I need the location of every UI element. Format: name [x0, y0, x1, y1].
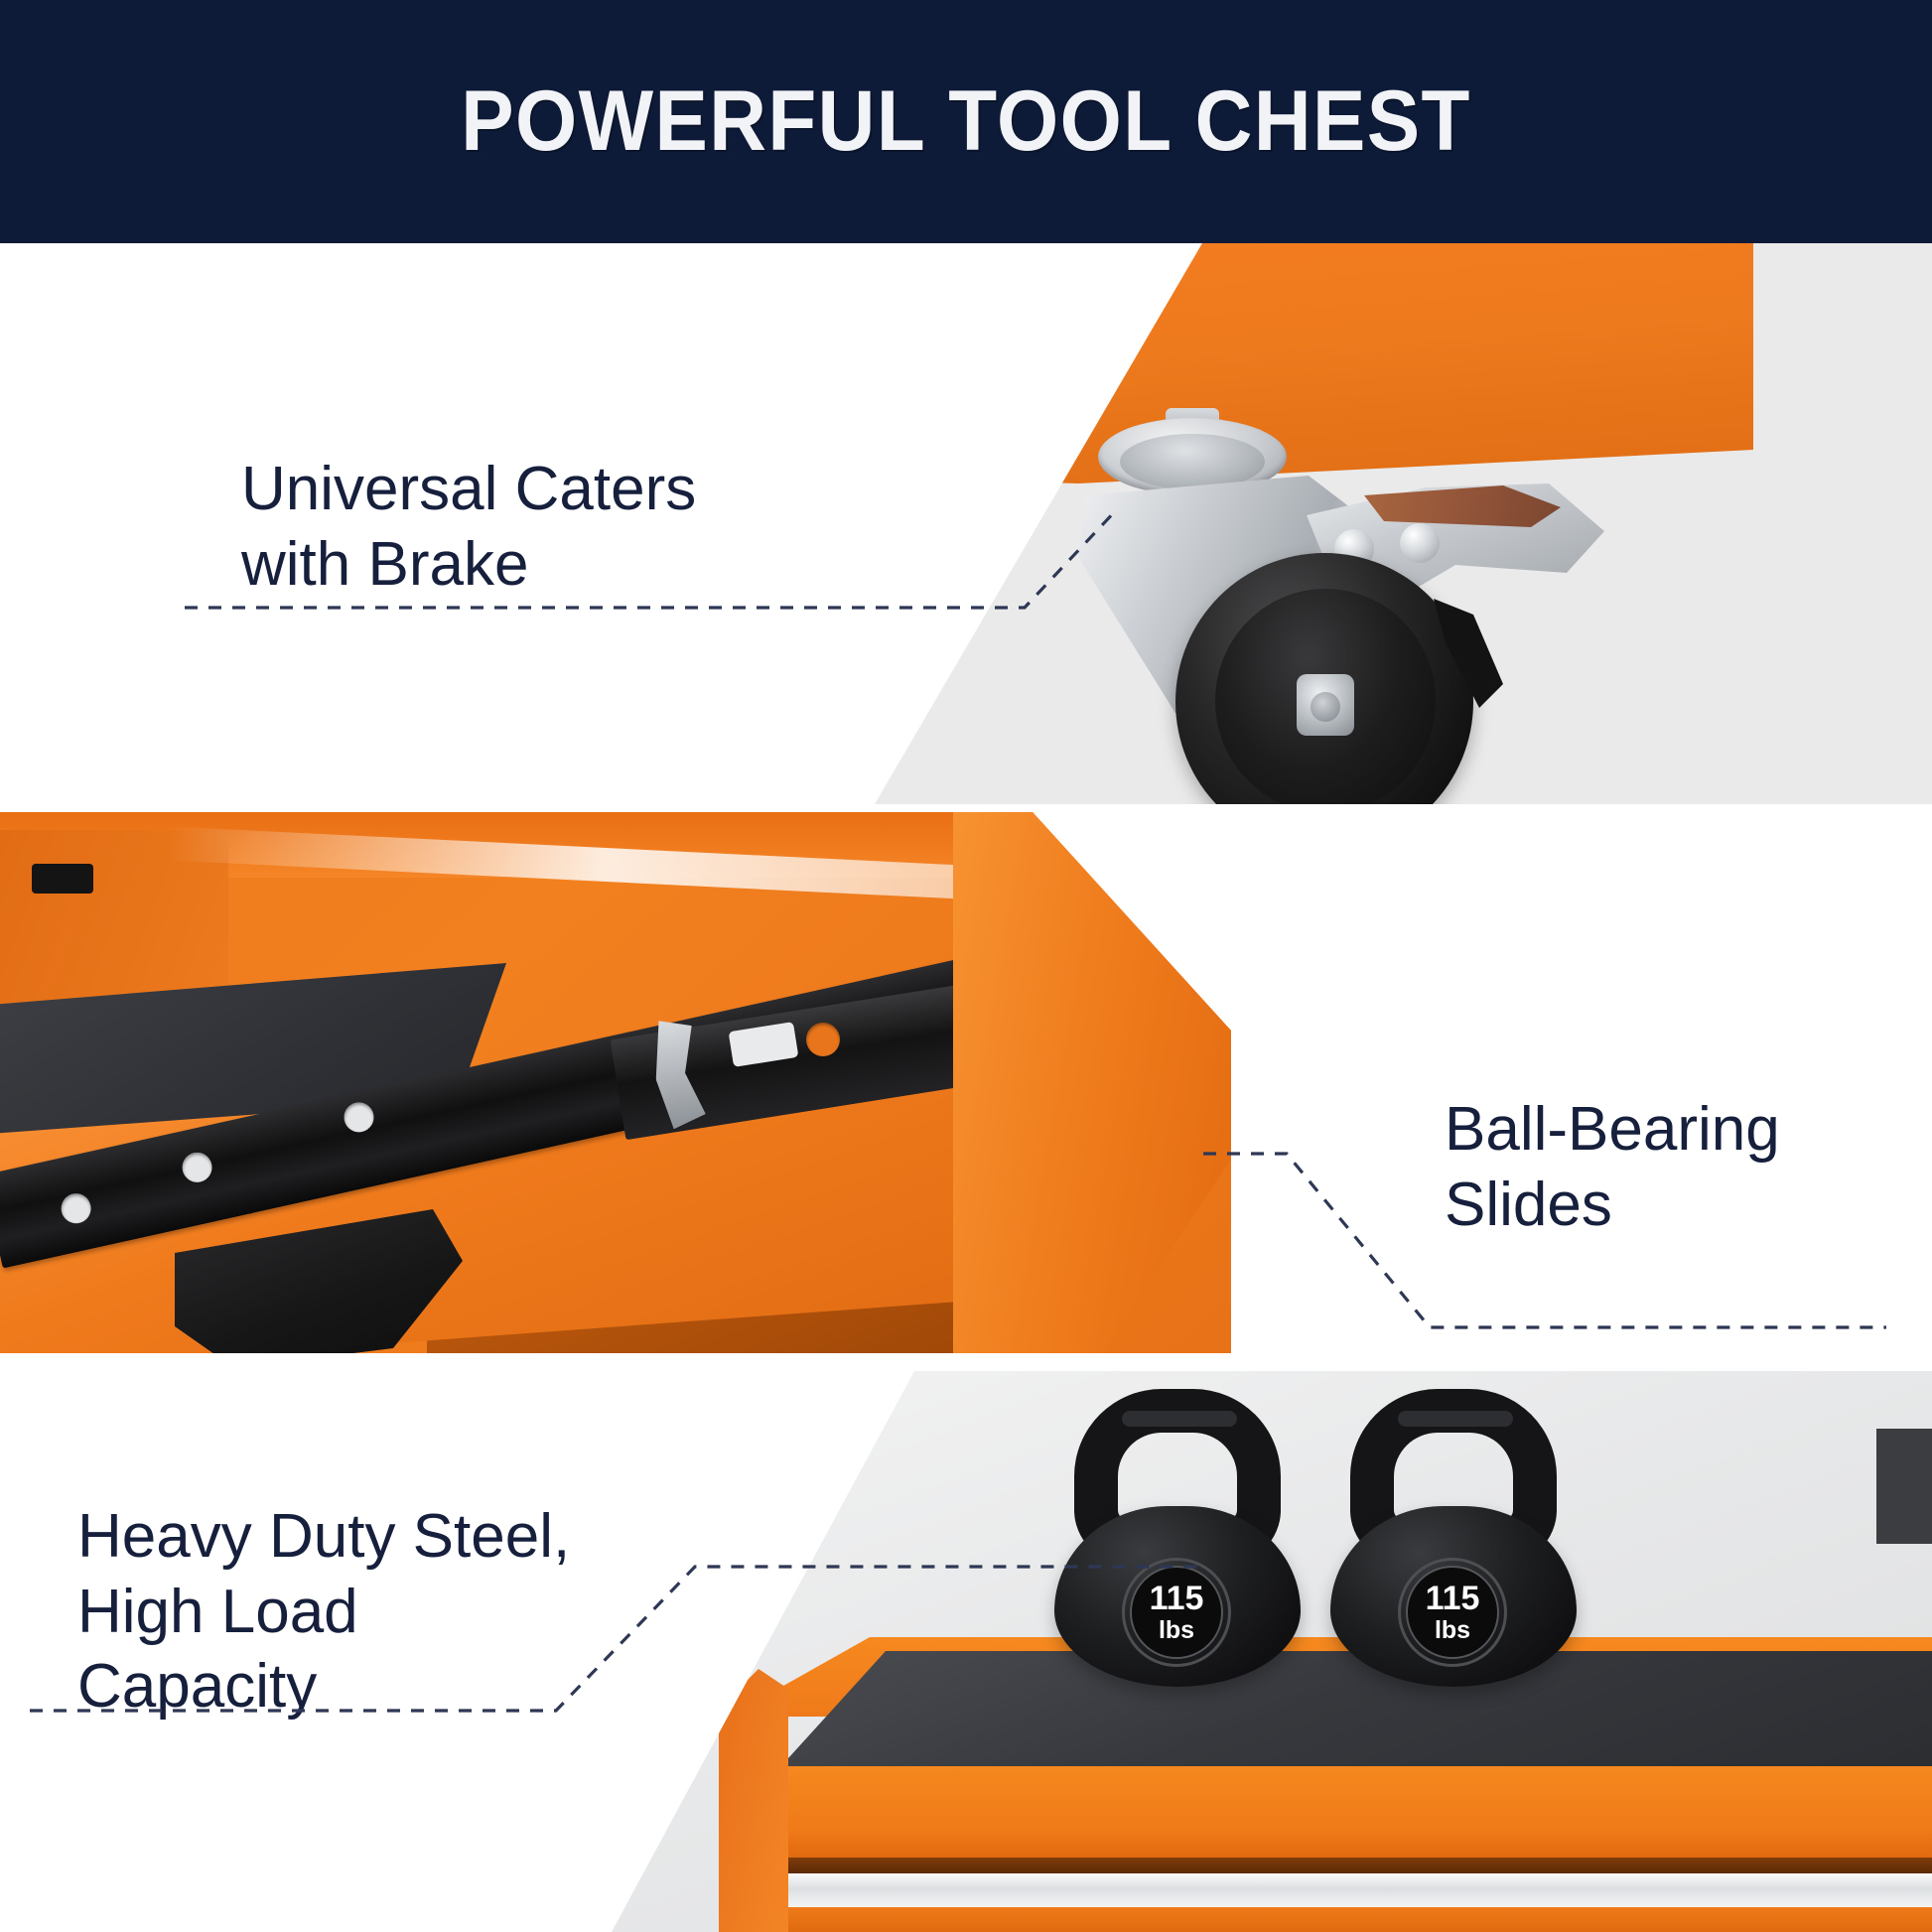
kettlebell: 115 lbs: [1324, 1389, 1583, 1687]
kettlebell-weight-badge: 115 lbs: [1406, 1566, 1499, 1659]
feature-caption-universal-casters: Universal Caters with Brake: [241, 452, 696, 602]
caster-swivel-plate-inner: [1120, 434, 1265, 489]
kettlebell-handle-grip: [1122, 1411, 1237, 1427]
kettlebell-weight-unit: lbs: [1435, 1618, 1470, 1643]
slide-rail-hole: [180, 1150, 215, 1185]
feature-panel-ball-bearing-slides: [0, 812, 1932, 1353]
kettlebell-weight-value: 115: [1426, 1582, 1480, 1615]
swivel-caster-assembly: [1058, 412, 1614, 804]
cabinet-corner-face: [751, 243, 1024, 485]
feature-caption-heavy-duty-steel: Heavy Duty Steel, High Load Capacity: [77, 1499, 570, 1725]
page-header: POWERFUL TOOL CHEST: [0, 0, 1932, 243]
caster-wheel-hub: [1297, 674, 1354, 736]
cabinet-drawer-top: [729, 1766, 1932, 1858]
kettlebell: 115 lbs: [1048, 1389, 1307, 1687]
cabinet-left-side: [719, 1669, 788, 1932]
slide-rail-hole: [342, 1099, 377, 1135]
kettlebell-weight-badge: 115 lbs: [1130, 1566, 1223, 1659]
cabinet-drawer-second: [729, 1907, 1932, 1932]
background-object: [1876, 1429, 1932, 1544]
kettlebell-photo: 115 lbs 115 lbs: [612, 1371, 1932, 1932]
feature-caption-ball-bearing-slides: Ball-Bearing Slides: [1445, 1092, 1780, 1242]
cabinet-mounting-slot: [32, 864, 93, 894]
kettlebell-weight-unit: lbs: [1159, 1618, 1194, 1643]
drawer-slide-photo: [0, 812, 1231, 1353]
cabinet-side-wall: [953, 812, 1231, 1353]
caster-photo: [641, 243, 1932, 804]
kettlebell-handle-grip: [1398, 1411, 1513, 1427]
slide-rail-hole: [59, 1190, 94, 1226]
page-title: POWERFUL TOOL CHEST: [461, 72, 1470, 171]
drawer-gap-shadow: [737, 1858, 1932, 1873]
caster-rivet: [1400, 523, 1440, 563]
aluminum-drawer-handle: [760, 1873, 1932, 1907]
kettlebell-weight-value: 115: [1150, 1582, 1204, 1615]
